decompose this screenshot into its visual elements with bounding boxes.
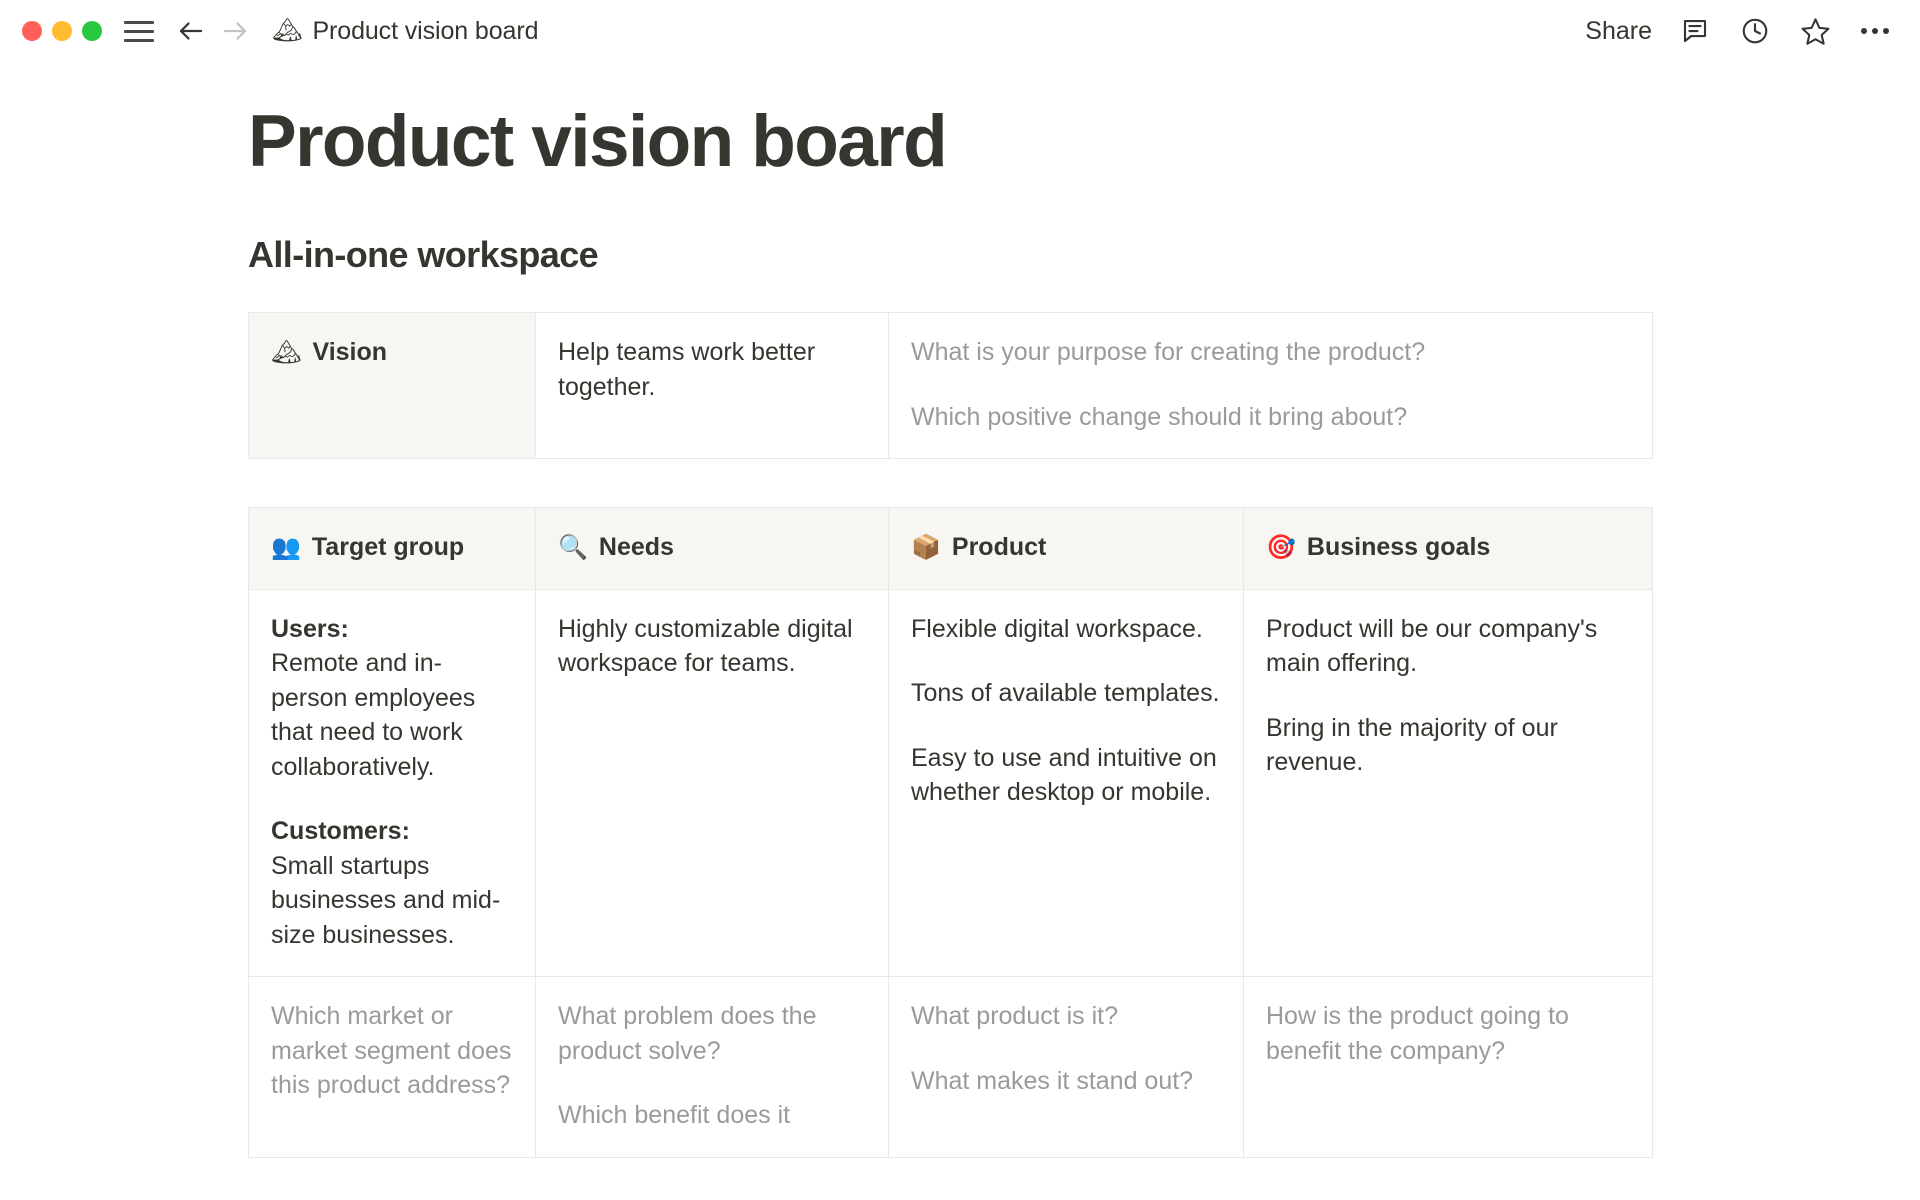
vision-label-cell[interactable]: 🏔 Vision <box>249 313 536 459</box>
mountain-icon: 🏔 <box>271 341 301 365</box>
cell-product-placeholder[interactable]: What product is it? What makes it stand … <box>889 977 1244 1158</box>
cell-needs-content[interactable]: Highly customizable digital workspace fo… <box>536 589 889 977</box>
traffic-lights <box>22 21 102 41</box>
column-header-target-group[interactable]: 👥 Target group <box>249 508 536 590</box>
more-dot <box>1883 28 1889 34</box>
titlebar-actions: Share <box>1585 14 1892 48</box>
product-placeholder-1: What product is it? <box>911 999 1221 1034</box>
cell-target-group-placeholder[interactable]: Which market or market segment does this… <box>249 977 536 1158</box>
customers-label: Customers: <box>271 817 410 845</box>
business-goals-placeholder-1: How is the product going to benefit the … <box>1266 999 1630 1068</box>
more-dot <box>1861 28 1867 34</box>
mountain-icon: 🏔 <box>272 19 302 43</box>
vision-value-cell[interactable]: Help teams work better together. <box>536 313 889 459</box>
header-inner: 🎯 Business goals <box>1266 530 1630 565</box>
business-goals-text-1: Product will be our company's main offer… <box>1266 612 1630 681</box>
back-arrow-icon[interactable] <box>176 16 206 46</box>
more-options-icon[interactable] <box>1858 14 1892 48</box>
close-window-button[interactable] <box>22 21 42 41</box>
header-inner: 📦 Product <box>911 530 1221 565</box>
customers-block: Customers: Small startups businesses and… <box>271 814 513 952</box>
vision-label-inner: 🏔 Vision <box>271 335 513 370</box>
vision-board-table: 👥 Target group 🔍 Needs 📦 Product <box>248 507 1653 1158</box>
hamburger-line <box>124 39 154 42</box>
table-spacer <box>248 459 1653 507</box>
breadcrumb-title: Product vision board <box>312 17 538 46</box>
maximize-window-button[interactable] <box>82 21 102 41</box>
share-button[interactable]: Share <box>1585 17 1652 46</box>
column-header-product[interactable]: 📦 Product <box>889 508 1244 590</box>
column-header-label: Needs <box>599 530 674 565</box>
vision-placeholder-2: Which positive change should it bring ab… <box>911 400 1630 435</box>
star-icon[interactable] <box>1798 14 1832 48</box>
target-group-placeholder-1: Which market or market segment does this… <box>271 999 513 1103</box>
column-header-needs[interactable]: 🔍 Needs <box>536 508 889 590</box>
people-icon: 👥 <box>271 536 301 560</box>
page-title[interactable]: Product vision board <box>248 102 1653 182</box>
target-icon: 🎯 <box>1266 536 1296 560</box>
table-row: Users: Remote and in-person employees th… <box>249 589 1653 977</box>
product-text-1: Flexible digital workspace. <box>911 612 1221 647</box>
vision-value-text: Help teams work better together. <box>558 335 866 404</box>
comment-icon[interactable] <box>1678 14 1712 48</box>
navigation-arrows <box>176 16 250 46</box>
customers-text: Small startups businesses and mid-size b… <box>271 852 500 949</box>
table-row: Which market or market segment does this… <box>249 977 1653 1158</box>
column-header-label: Business goals <box>1307 530 1490 565</box>
needs-placeholder-1: What problem does the product solve? <box>558 999 866 1068</box>
needs-text: Highly customizable digital workspace fo… <box>558 612 866 681</box>
header-inner: 👥 Target group <box>271 530 513 565</box>
hamburger-line <box>124 30 154 33</box>
column-header-label: Target group <box>312 530 464 565</box>
vision-table: 🏔 Vision Help teams work better together… <box>248 312 1653 459</box>
business-goals-text-2: Bring in the majority of our revenue. <box>1266 711 1630 780</box>
column-header-label: Product <box>952 530 1046 565</box>
cell-needs-placeholder[interactable]: What problem does the product solve? Whi… <box>536 977 889 1158</box>
section-heading[interactable]: All-in-one workspace <box>248 234 1653 276</box>
table-row: 🏔 Vision Help teams work better together… <box>249 313 1653 459</box>
page-body: Product vision board All-in-one workspac… <box>0 62 1920 1158</box>
history-clock-icon[interactable] <box>1738 14 1772 48</box>
vision-placeholder-1: What is your purpose for creating the pr… <box>911 335 1630 370</box>
package-icon: 📦 <box>911 536 941 560</box>
cell-product-content[interactable]: Flexible digital workspace. Tons of avai… <box>889 589 1244 977</box>
product-text-2: Tons of available templates. <box>911 676 1221 711</box>
page-content: Product vision board All-in-one workspac… <box>248 102 1653 1158</box>
breadcrumb[interactable]: 🏔 Product vision board <box>272 17 538 46</box>
product-text-3: Easy to use and intuitive on whether des… <box>911 741 1221 810</box>
window-titlebar: 🏔 Product vision board Share <box>0 0 1920 62</box>
more-dot <box>1872 28 1878 34</box>
users-block: Users: Remote and in-person employees th… <box>271 612 513 785</box>
column-header-business-goals[interactable]: 🎯 Business goals <box>1244 508 1653 590</box>
product-placeholder-2: What makes it stand out? <box>911 1064 1221 1099</box>
users-label: Users: <box>271 615 349 643</box>
table-header-row: 👥 Target group 🔍 Needs 📦 Product <box>249 508 1653 590</box>
hamburger-menu-icon[interactable] <box>124 19 154 43</box>
cell-target-group-content[interactable]: Users: Remote and in-person employees th… <box>249 589 536 977</box>
magnifier-icon: 🔍 <box>558 536 588 560</box>
hamburger-line <box>124 21 154 24</box>
header-inner: 🔍 Needs <box>558 530 866 565</box>
cell-business-goals-content[interactable]: Product will be our company's main offer… <box>1244 589 1653 977</box>
vision-label: Vision <box>312 335 387 370</box>
users-text: Remote and in-person employees that need… <box>271 649 475 781</box>
vision-placeholder-cell[interactable]: What is your purpose for creating the pr… <box>889 313 1653 459</box>
needs-placeholder-2: Which benefit does it <box>558 1098 866 1133</box>
cell-business-goals-placeholder[interactable]: How is the product going to benefit the … <box>1244 977 1653 1158</box>
forward-arrow-icon[interactable] <box>220 16 250 46</box>
minimize-window-button[interactable] <box>52 21 72 41</box>
